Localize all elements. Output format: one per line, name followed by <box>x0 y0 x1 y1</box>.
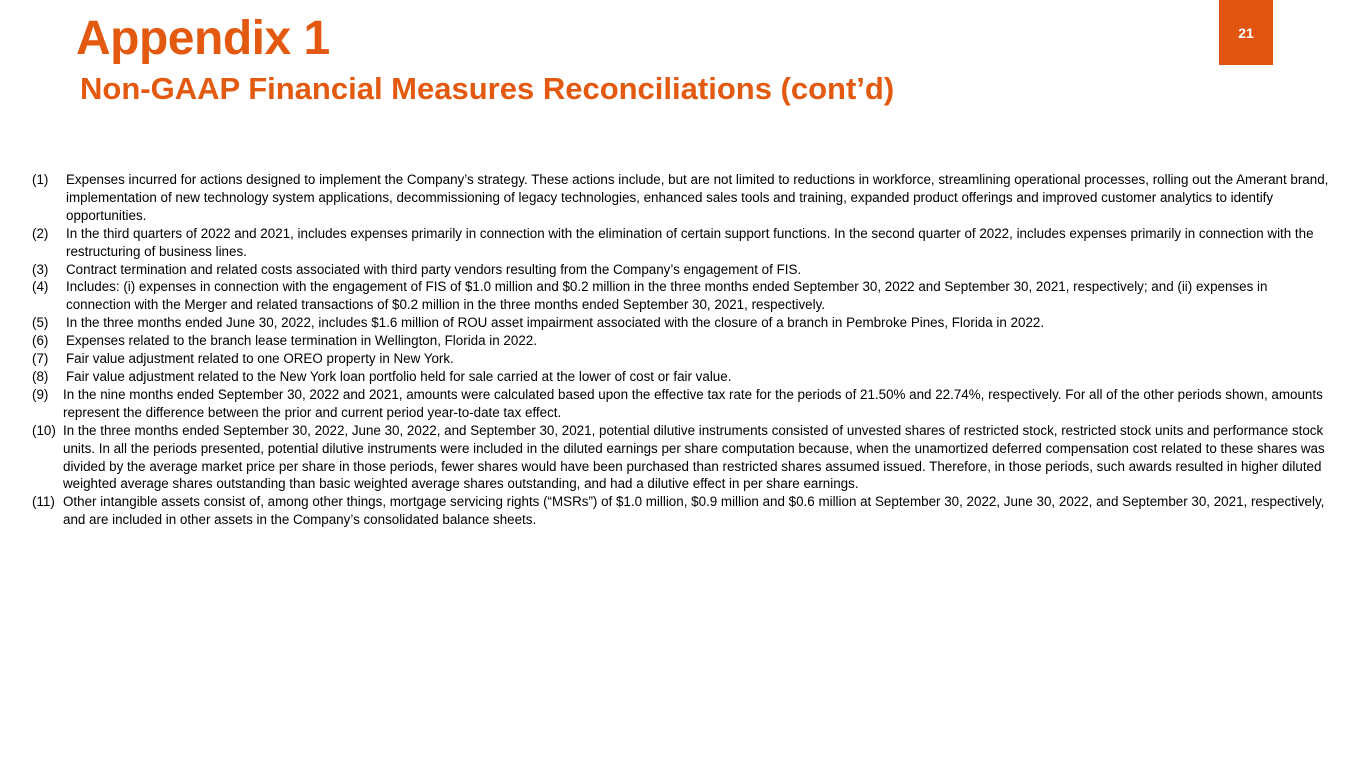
footnote-item: (4)Includes: (i) expenses in connection … <box>32 278 1334 314</box>
page-number-label: 21 <box>1238 25 1254 41</box>
footnote-marker: (10) <box>32 422 63 440</box>
footnote-text: Fair value adjustment related to the New… <box>66 368 1334 386</box>
footnote-text: Fair value adjustment related to one ORE… <box>66 350 1334 368</box>
footnote-text: Expenses related to the branch lease ter… <box>66 332 1334 350</box>
footnote-marker: (4) <box>32 278 66 296</box>
footnote-marker: (2) <box>32 225 66 243</box>
footnote-text: Other intangible assets consist of, amon… <box>63 493 1334 529</box>
footnote-marker: (1) <box>32 171 66 189</box>
footnote-marker: (6) <box>32 332 66 350</box>
page-subtitle: Non-GAAP Financial Measures Reconciliati… <box>80 71 1196 108</box>
footnote-item: (8)Fair value adjustment related to the … <box>32 368 1334 386</box>
footnote-text: Contract termination and related costs a… <box>66 261 1334 279</box>
footnote-item: (1)Expenses incurred for actions designe… <box>32 171 1334 225</box>
footnote-text: Includes: (i) expenses in connection wit… <box>66 278 1334 314</box>
footnote-item: (11)Other intangible assets consist of, … <box>32 493 1334 529</box>
footnote-marker: (5) <box>32 314 66 332</box>
footnote-text: In the three months ended June 30, 2022,… <box>66 314 1334 332</box>
footnote-marker: (3) <box>32 261 66 279</box>
footnote-text: Expenses incurred for actions designed t… <box>66 171 1334 225</box>
footnote-item: (7)Fair value adjustment related to one … <box>32 350 1334 368</box>
footnote-item: (3)Contract termination and related cost… <box>32 261 1334 279</box>
footnote-item: (9)In the nine months ended September 30… <box>32 386 1334 422</box>
title-block: Appendix 1 Non-GAAP Financial Measures R… <box>76 13 1196 107</box>
footnote-item: (10)In the three months ended September … <box>32 422 1334 494</box>
footnote-marker: (11) <box>32 493 63 511</box>
footnote-item: (6)Expenses related to the branch lease … <box>32 332 1334 350</box>
page-title: Appendix 1 <box>76 13 1196 65</box>
footnote-text: In the nine months ended September 30, 2… <box>63 386 1334 422</box>
footnote-text: In the three months ended September 30, … <box>63 422 1334 494</box>
footnote-item: (5)In the three months ended June 30, 20… <box>32 314 1334 332</box>
footnote-text: In the third quarters of 2022 and 2021, … <box>66 225 1334 261</box>
page-number-badge: 21 <box>1219 0 1273 65</box>
footnote-marker: (8) <box>32 368 66 386</box>
footnote-marker: (7) <box>32 350 66 368</box>
footnote-item: (2)In the third quarters of 2022 and 202… <box>32 225 1334 261</box>
footnote-list: (1)Expenses incurred for actions designe… <box>32 171 1334 529</box>
footnote-marker: (9) <box>32 386 63 404</box>
